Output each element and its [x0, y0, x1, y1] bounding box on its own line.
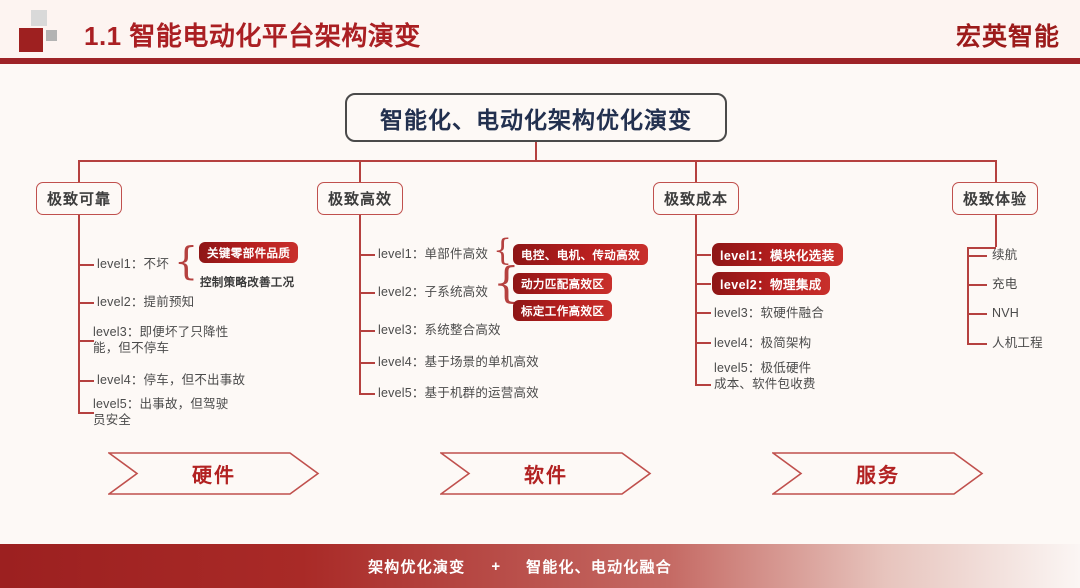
- branch-node-1[interactable]: 极致可靠: [36, 182, 122, 215]
- branch-1-item-1: level1：不坏: [97, 256, 169, 272]
- branch-4-item-2: 充电: [992, 276, 1017, 292]
- branch-3-item-5: level5：极低硬件 成本、软件包收费: [714, 360, 816, 392]
- chevron-service[interactable]: 服务: [772, 452, 984, 495]
- footer-plus-sign: +: [491, 558, 500, 575]
- branch-3-item-1: level1：模块化选装: [712, 243, 843, 266]
- branch-4-item-3: NVH: [992, 305, 1019, 321]
- logo-square-gray: [31, 10, 47, 26]
- branch-1-stem: [78, 215, 80, 247]
- footer-left-text: 架构优化演变: [368, 556, 465, 577]
- branch-2-item-4: level4：基于场景的单机高效: [378, 354, 539, 370]
- branch-1-item-2: level2：提前预知: [97, 294, 194, 310]
- branch-3-item-2: level2：物理集成: [712, 272, 830, 295]
- branch-3-item-4: level4：极简架构: [714, 335, 811, 351]
- branch-1-tick-3: [78, 340, 94, 342]
- branch-4-tick-1: [967, 255, 987, 257]
- connector-drop-1: [78, 160, 80, 182]
- branch-4-item-1: 续航: [992, 247, 1017, 263]
- chevron-software-label: 软件: [524, 459, 568, 488]
- connector-bus: [78, 160, 996, 162]
- connector-drop-2: [359, 160, 361, 182]
- branch-2-item-3: level3：系统整合高效: [378, 322, 501, 338]
- logo-square-mid: [46, 30, 57, 41]
- branch-1-tick-1: [78, 264, 94, 266]
- branch-2-badge-1: 电控、电机、传动高效: [513, 244, 648, 265]
- branch-2-badge-2: 动力匹配高效区: [513, 273, 612, 294]
- root-node: 智能化、电动化架构优化演变: [345, 93, 727, 142]
- branch-2-item-2: level2：子系统高效: [378, 284, 488, 300]
- branch-1-item-3: level3：即便坏了只降性 能，但不停车: [93, 324, 228, 356]
- branch-3-spine: [695, 247, 697, 384]
- branch-1-spine: [78, 247, 80, 412]
- page-footer: 架构优化演变 + 智能化、电动化融合: [0, 544, 1080, 588]
- branch-1-tick-4: [78, 380, 94, 382]
- branch-2-item-5: level5：基于机群的运营高效: [378, 385, 539, 401]
- branch-2-stem: [359, 215, 361, 247]
- branch-node-4[interactable]: 极致体验: [952, 182, 1038, 215]
- three-squares-logo-icon: [18, 10, 62, 54]
- branch-1-note-1: 控制策略改善工况: [200, 274, 294, 290]
- branch-2-item-1: level1：单部件高效: [378, 246, 488, 262]
- branch-4-tick-3: [967, 313, 987, 315]
- branch-3-tick-2: [695, 283, 711, 285]
- branch-1-tick-2: [78, 302, 94, 304]
- branch-node-2[interactable]: 极致高效: [317, 182, 403, 215]
- chevron-hardware-label: 硬件: [192, 459, 236, 488]
- connector-drop-3: [695, 160, 697, 182]
- branch-1-brace-icon: {: [174, 242, 198, 280]
- connector-drop-4: [995, 160, 997, 182]
- branch-2-badge-3: 标定工作高效区: [513, 300, 612, 321]
- chevron-service-label: 服务: [856, 459, 900, 488]
- connector-root-stem: [535, 142, 537, 160]
- branch-2-spine: [359, 247, 361, 393]
- branch-4-item-4: 人机工程: [992, 335, 1043, 351]
- branch-1-tick-5: [78, 412, 94, 414]
- branch-2-tick-4: [359, 362, 375, 364]
- branch-3-tick-3: [695, 312, 711, 314]
- branch-4-tick-2: [967, 284, 987, 286]
- branch-node-3[interactable]: 极致成本: [653, 182, 739, 215]
- branch-2-tick-5: [359, 393, 375, 395]
- branch-3-tick-1: [695, 254, 711, 256]
- page-title: 1.1 智能电动化平台架构演变: [84, 16, 421, 53]
- chevron-hardware[interactable]: 硬件: [108, 452, 320, 495]
- branch-1-badge-1: 关键零部件品质: [199, 242, 298, 263]
- chevron-software[interactable]: 软件: [440, 452, 652, 495]
- logo-square-red: [19, 28, 43, 52]
- branch-1-item-4: level4：停车，但不出事故: [97, 372, 245, 388]
- brand-logo-text: 宏英智能: [956, 17, 1060, 53]
- diagram-canvas: 智能化、电动化架构优化演变 极致可靠 level1：不坏 level2：提前预知…: [0, 64, 1080, 544]
- footer-right-text: 智能化、电动化融合: [526, 556, 672, 577]
- branch-2-tick-3: [359, 330, 375, 332]
- branch-4-tick-4: [967, 343, 987, 345]
- branch-4-stem: [995, 215, 997, 247]
- branch-4-spine: [967, 247, 969, 343]
- page-header: 1.1 智能电动化平台架构演变 宏英智能: [0, 0, 1080, 63]
- branch-2-tick-1: [359, 254, 375, 256]
- branch-1-item-5: level5：出事故，但驾驶 员安全: [93, 396, 228, 428]
- branch-3-tick-5: [695, 384, 711, 386]
- branch-3-stem: [695, 215, 697, 247]
- branch-2-tick-2: [359, 292, 375, 294]
- branch-3-tick-4: [695, 342, 711, 344]
- branch-3-item-3: level3：软硬件融合: [714, 305, 824, 321]
